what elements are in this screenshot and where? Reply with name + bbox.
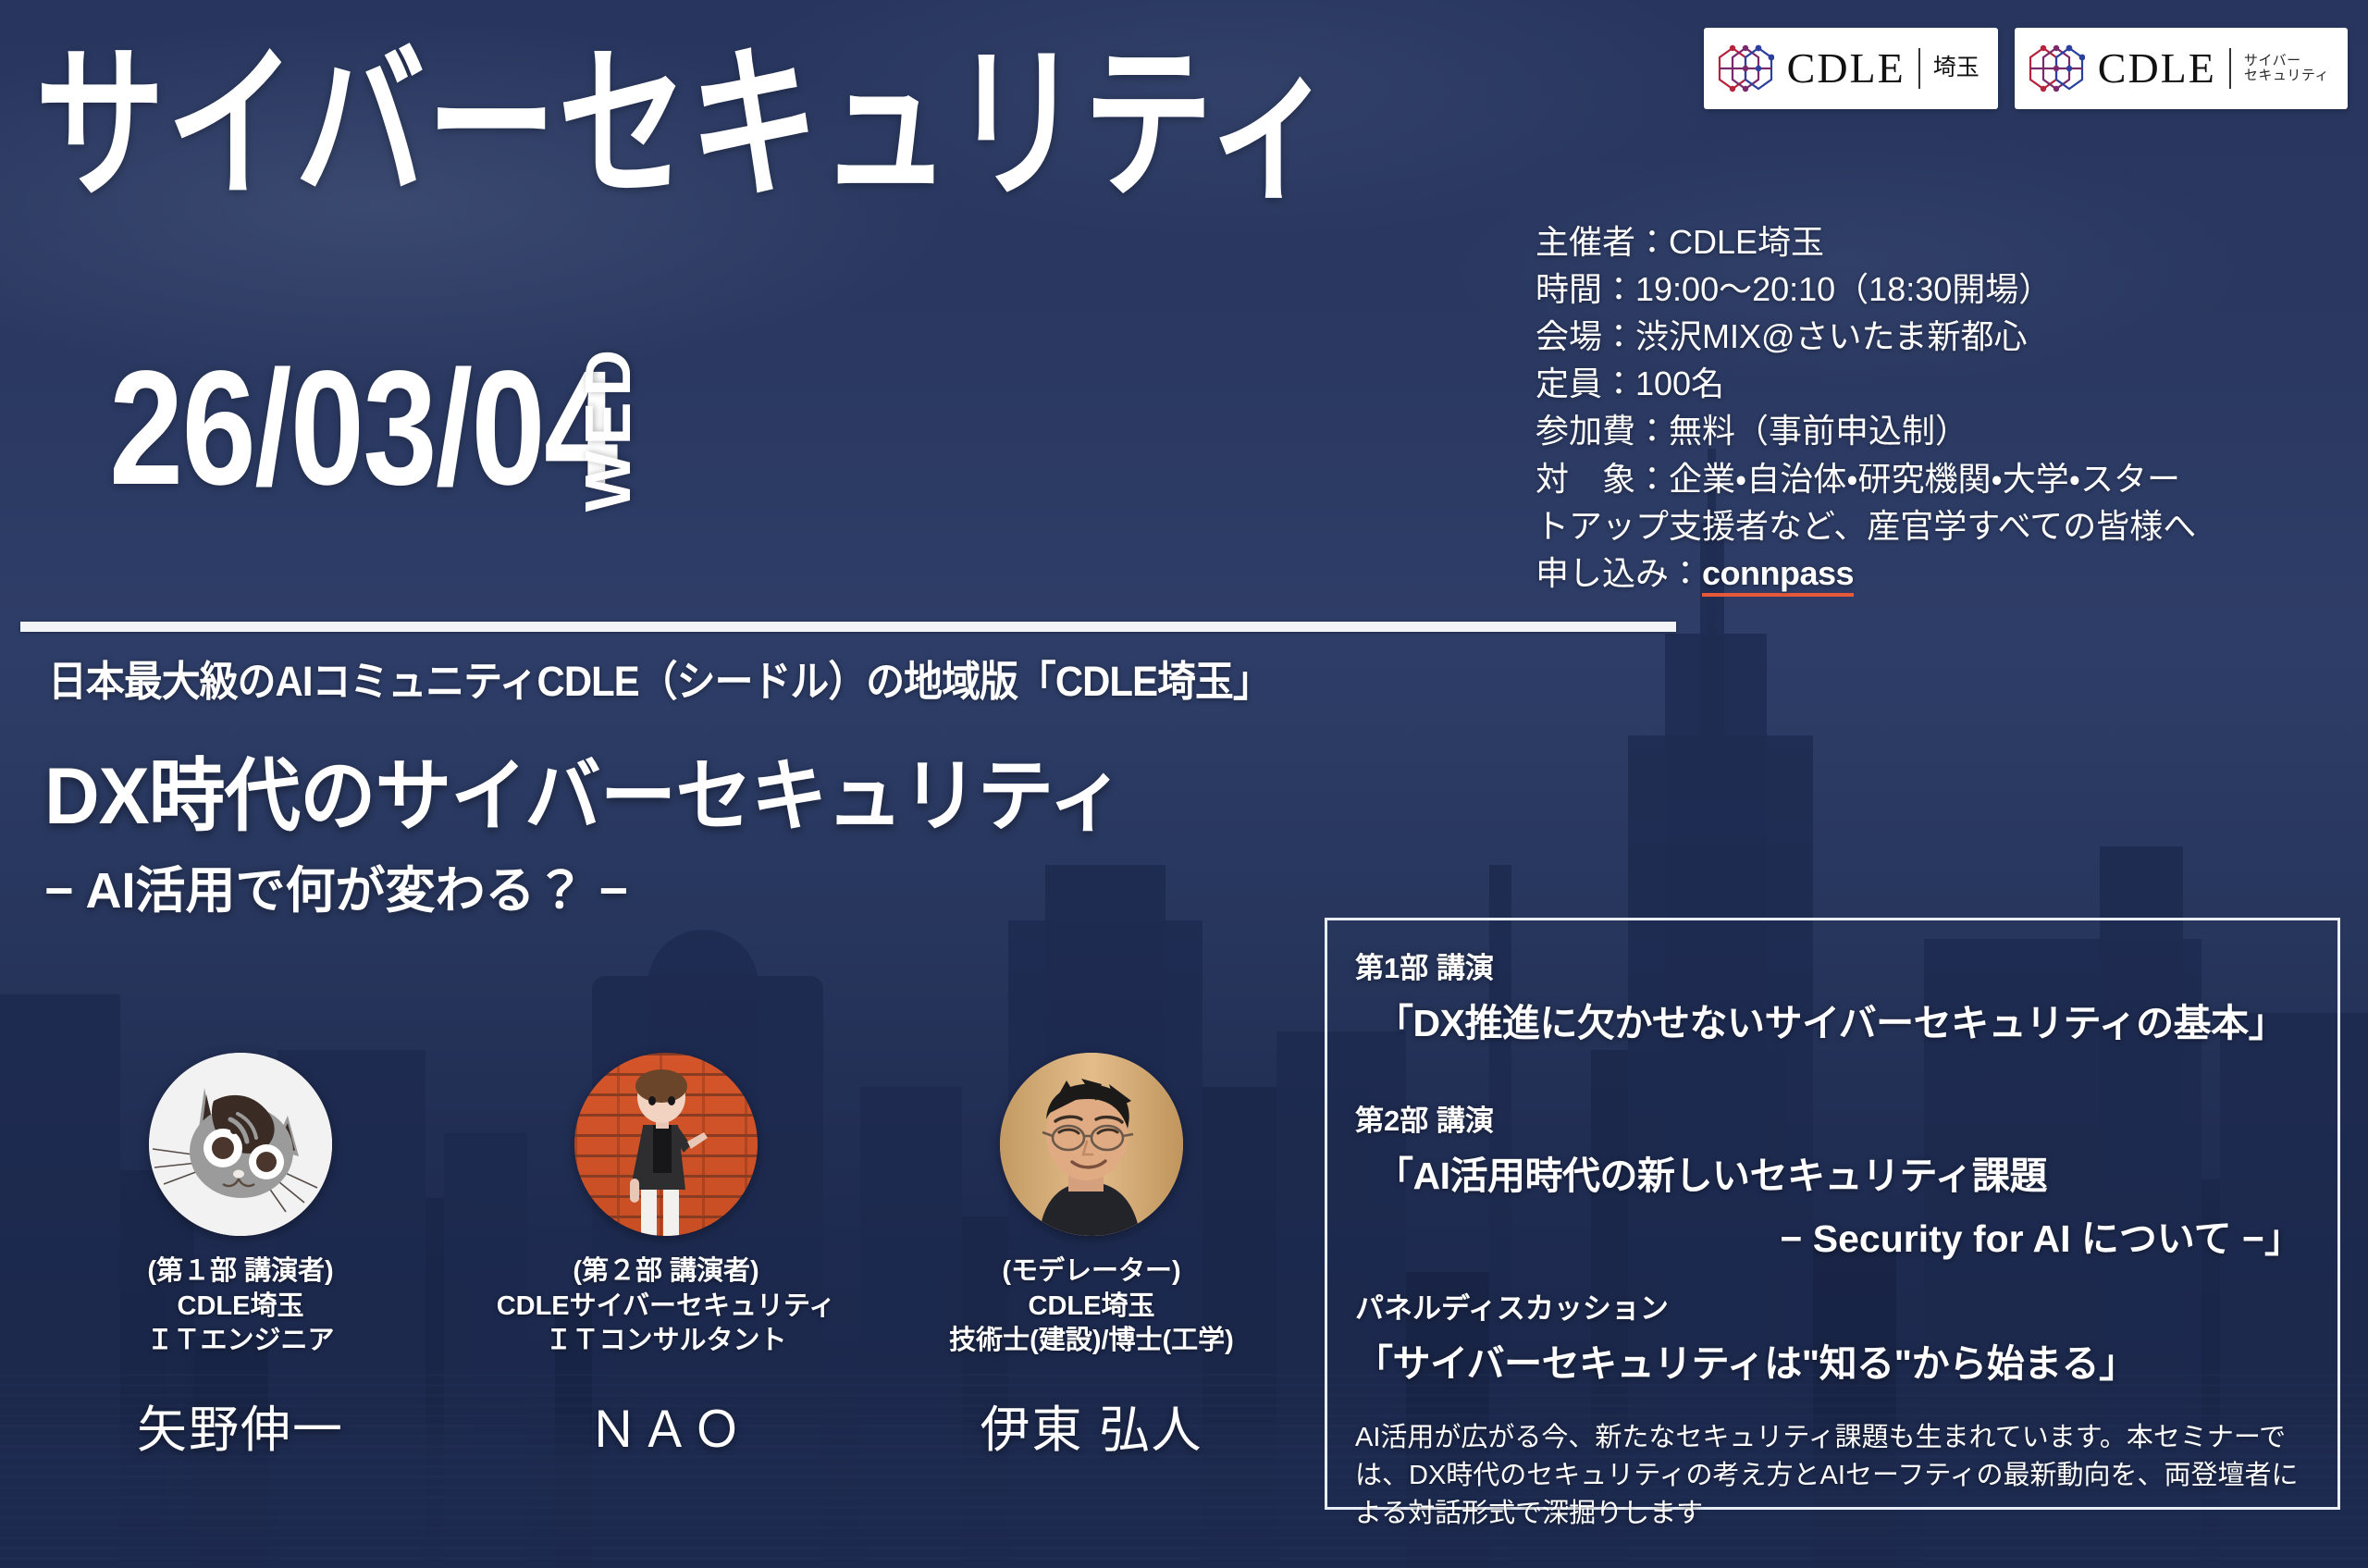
program-spacer — [1355, 1055, 2310, 1095]
detail-time: 時間：19:00〜20:10（18:30開場） — [1535, 265, 2312, 313]
session-headline: DX時代のサイバーセキュリティ — [44, 731, 1124, 846]
speaker-card: (第１部 講演者) CDLE埼玉 ＩＴエンジニア 矢野伸一 — [42, 1053, 439, 1462]
event-date-value: 26/03/04 — [109, 354, 617, 504]
detail-capacity: 定員：100名 — [1535, 360, 2312, 407]
event-poster: サイバーセキュリティ 26/03/04 WED — [0, 0, 2368, 1568]
character-avatar — [574, 1053, 758, 1236]
portrait-photo — [1000, 1053, 1183, 1236]
lead-text: 日本最大級のAIコミュニティCDLE（シードル）の地域版「CDLE埼玉」 — [48, 648, 1271, 708]
connpass-link[interactable]: connpass — [1702, 554, 1854, 597]
program-part2-title-line2: − Security for AI について −」 — [1355, 1207, 2310, 1263]
cdle-chapter-label: サイバー セキュリティ — [2244, 54, 2329, 84]
cat-avatar — [149, 1053, 332, 1236]
session-subheadline: − AI活用で何が変わる？ − — [44, 849, 628, 922]
speaker-job: ＩＴコンサルタント — [467, 1324, 865, 1359]
program-part2-kicker: 第2部 講演 — [1355, 1097, 2310, 1139]
logo-divider — [1918, 48, 1920, 89]
cdle-chapter-label: 埼玉 — [1933, 56, 1979, 81]
speaker-name: 矢野伸一 — [42, 1389, 439, 1462]
cdle-wordmark: CDLE — [2098, 47, 2216, 90]
program-part2-title-line1: 「AI活用時代の新しいセキュリティ課題 — [1355, 1144, 2310, 1200]
speaker-card: (第２部 講演者) CDLEサイバーセキュリティ ＩＴコンサルタント ＮＡＯ — [467, 1053, 865, 1462]
section-divider — [20, 622, 1676, 632]
page-title: サイバーセキュリティ — [35, 43, 1338, 209]
cdle-cybersecurity-logo: CDLE サイバー セキュリティ — [2015, 28, 2348, 109]
speaker-role: (第１部 講演者) — [42, 1254, 439, 1290]
cdle-wordmark: CDLE — [1787, 47, 1905, 90]
speaker-role: (第２部 講演者) — [467, 1254, 865, 1290]
event-details: 主催者：CDLE埼玉 時間：19:00〜20:10（18:30開場） 会場：渋沢… — [1535, 218, 2312, 597]
program-panel-title: 「サイバーセキュリティは"知る"から始まる」 — [1355, 1332, 2310, 1388]
speaker-role: (モデレーター) — [893, 1254, 1290, 1290]
person-photo-icon — [1000, 1053, 1183, 1236]
program-spacer — [1355, 1263, 2310, 1283]
detail-audience-line2: トアップ支援者など、産官学すべての皆様へ — [1535, 502, 2312, 549]
cat-icon — [149, 1053, 332, 1236]
program-panel-kicker: パネルディスカッション — [1355, 1285, 2310, 1327]
detail-fee: 参加費：無料（事前申込制） — [1535, 407, 2312, 454]
cdle-hexagon-icon — [2028, 43, 2085, 94]
speaker-name: 伊東 弘人 — [893, 1389, 1290, 1462]
program-part1-kicker: 第1部 講演 — [1355, 945, 2310, 986]
speaker-org: CDLE埼玉 — [42, 1290, 439, 1325]
apply-label: 申し込み： — [1535, 554, 1702, 592]
detail-apply: 申し込み：connpass — [1535, 549, 2312, 597]
speaker-org: CDLE埼玉 — [893, 1290, 1290, 1325]
speaker-name: ＮＡＯ — [467, 1389, 865, 1462]
cdle-hexagon-icon — [1717, 43, 1774, 94]
logo-bar: CDLE 埼玉 CDLE — [1704, 28, 2348, 109]
program-description: AI活用が広がる今、新たなセキュリティ課題も生まれています。本セミナーでは、DX… — [1355, 1419, 2310, 1534]
program-part1-title: 「DX推進に欠かせないサイバーセキュリティの基本」 — [1355, 992, 2310, 1047]
speaker-job: 技術士(建設)/博士(工学) — [893, 1324, 1290, 1359]
speaker-card: (モデレーター) CDLE埼玉 技術士(建設)/博士(工学) 伊東 弘人 — [893, 1053, 1290, 1462]
detail-organizer: 主催者：CDLE埼玉 — [1535, 218, 2312, 265]
program-box: 第1部 講演 「DX推進に欠かせないサイバーセキュリティの基本」 第2部 講演 … — [1325, 918, 2340, 1510]
person-avatar-icon — [574, 1053, 758, 1236]
speaker-job: ＩＴエンジニア — [42, 1324, 439, 1359]
cdle-saitama-logo: CDLE 埼玉 — [1704, 28, 1998, 109]
event-date: 26/03/04 WED — [109, 344, 645, 504]
speaker-list: (第１部 講演者) CDLE埼玉 ＩＴエンジニア 矢野伸一 — [28, 1053, 1304, 1462]
detail-audience-line1: 対 象：企業・自治体・研究機関・大学・スター — [1535, 455, 2312, 502]
logo-divider — [2229, 48, 2231, 89]
detail-venue: 会場：渋沢MIX@さいたま新都心 — [1535, 313, 2312, 360]
speaker-org: CDLEサイバーセキュリティ — [467, 1290, 865, 1325]
event-day-of-week: WED — [571, 344, 645, 512]
